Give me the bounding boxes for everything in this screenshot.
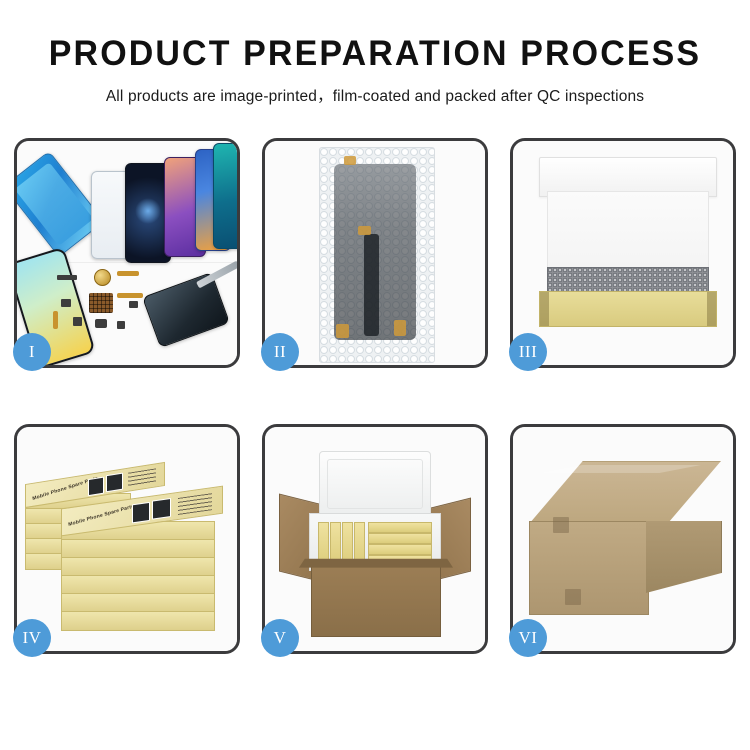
box-label-front: Mobile Phone Spare Parts [68,504,135,528]
stacked-box-front-4 [61,575,215,595]
bubble-wrap-bag [319,147,435,363]
phone-housing-icon [142,272,230,348]
flex-cable-icon-2 [117,293,143,298]
vibration-motor-icon [94,269,111,286]
carton-body [311,563,441,637]
stacked-box-front-5 [61,593,215,613]
box-spec-lines-rear [128,468,156,487]
yellow-box-tray [539,291,717,327]
step-6-image [513,427,733,651]
process-step-5: V [262,424,488,654]
box-thumb-rear-1 [88,477,104,497]
box-spec-lines-front [178,493,212,515]
logic-board-icon [89,293,113,313]
tape-tab-icon-2 [358,226,371,235]
stacked-box-front-3 [61,557,215,577]
product-preparation-infographic: PRODUCT PREPARATION PROCESS All products… [0,0,750,750]
process-step-3: III [510,138,736,368]
camera-module-icon [95,319,107,328]
step-4-image: Mobile Phone Spare Parts Mobile Phone Sp… [17,427,237,651]
box-stack: Mobile Phone Spare Parts Mobile Phone Sp… [23,445,235,637]
box-thumb-rear-2 [106,473,123,493]
step-5-image [265,427,485,651]
tape-tab-icon-1 [344,156,356,165]
step-badge-2: II [261,333,299,371]
process-step-4: Mobile Phone Spare Parts Mobile Phone Sp… [14,424,240,654]
small-part-icon-1 [61,299,71,307]
page-title: PRODUCT PREPARATION PROCESS [11,36,739,71]
flex-cable-icon-3 [53,311,58,329]
process-step-1: I [14,138,240,368]
carton-hand-hole-bottom [565,589,581,605]
styrofoam-lid [319,451,431,517]
carton-side-face [646,521,722,593]
white-box-back-wall [547,191,709,271]
process-step-2: II [262,138,488,368]
box-thumb-front-1 [132,502,150,524]
stacked-box-front-2 [61,539,215,559]
step-3-image [513,141,733,365]
step-badge-4: IV [13,619,51,657]
speaker-chip-icon [57,275,77,280]
process-step-6: VI [510,424,736,654]
step-badge-5: V [261,619,299,657]
yellow-box-h3 [368,544,432,555]
stacked-box-front-6 [61,611,215,631]
yellow-box-h1 [368,522,432,533]
wrapped-cable [364,234,379,336]
step-badge-6: VI [509,619,547,657]
teal-phone-icon [213,143,237,249]
step-2-image [265,141,485,365]
box-thumb-front-2 [152,498,171,520]
small-part-icon-2 [73,317,82,326]
step-1-image [17,141,237,365]
tape-tab-icon-3 [336,324,349,338]
tape-tab-icon-4 [394,320,406,336]
small-part-icon-4 [129,301,138,308]
flex-cable-icon-1 [117,271,139,276]
carton-front-face [529,521,649,615]
process-step-grid: I II III [14,138,736,654]
page-subtitle: All products are image-printed，film-coat… [0,84,750,106]
carton-hand-hole-top [553,517,569,533]
small-part-icon-3 [117,321,125,329]
yellow-box-h2 [368,533,432,544]
step-badge-1: I [13,333,51,371]
step-badge-3: III [509,333,547,371]
header: PRODUCT PREPARATION PROCESS All products… [0,0,750,106]
